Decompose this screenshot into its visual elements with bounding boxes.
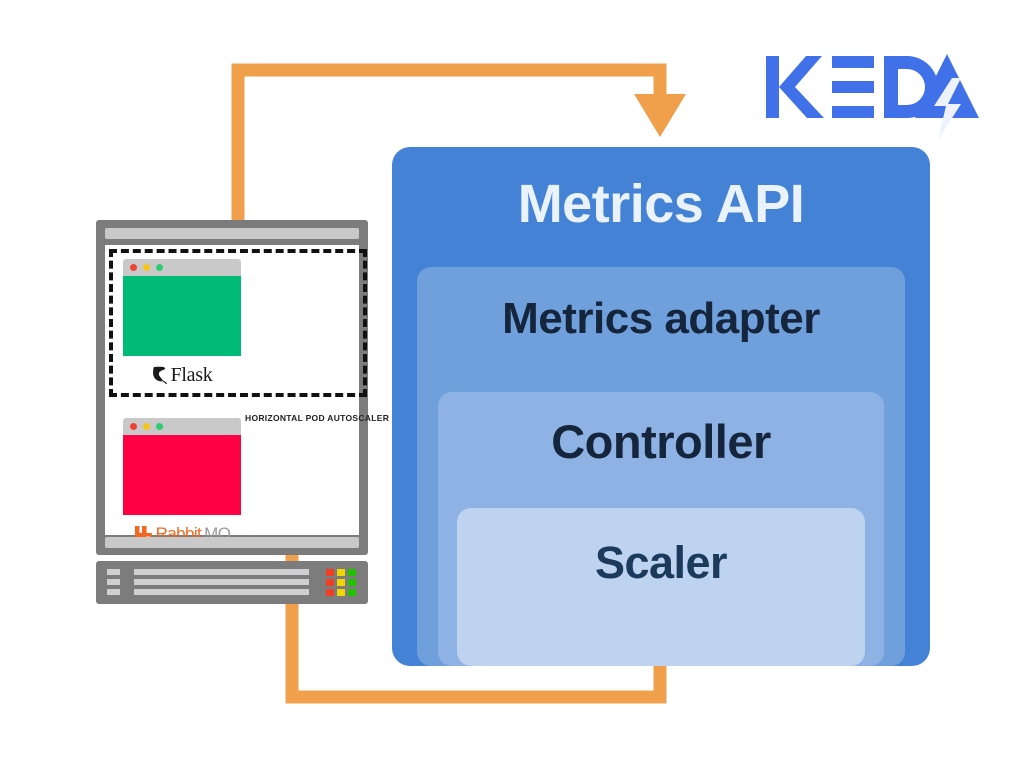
close-dot-icon[interactable] xyxy=(130,264,137,271)
rack-slot-bars xyxy=(134,569,309,595)
flask-horn-icon xyxy=(152,365,168,385)
window-titlebar xyxy=(123,259,241,276)
panel-scaler[interactable]: Scaler xyxy=(457,508,865,666)
monitor: HORIZONTAL POD AUTOSCALER Flask xyxy=(96,220,368,555)
flask-logo: Flask xyxy=(123,362,241,388)
flask-label: Flask xyxy=(171,364,213,387)
minimize-dot-icon[interactable] xyxy=(143,264,150,271)
panel-scaler-label: Scaler xyxy=(595,540,727,666)
rack-status-leds xyxy=(326,569,356,596)
monitor-top-bar xyxy=(105,228,359,239)
maximize-dot-icon[interactable] xyxy=(156,264,163,271)
minimize-dot-icon[interactable] xyxy=(143,423,150,430)
window-body xyxy=(123,435,241,515)
hpa-label: HORIZONTAL POD AUTOSCALER xyxy=(245,413,389,423)
keda-letter-e xyxy=(832,56,874,118)
app-window-flask[interactable]: Flask xyxy=(123,259,241,388)
maximize-dot-icon[interactable] xyxy=(156,423,163,430)
window-titlebar xyxy=(123,418,241,435)
window-body xyxy=(123,276,241,356)
keda-letter-k xyxy=(766,56,824,118)
close-dot-icon[interactable] xyxy=(130,423,137,430)
rack-indicator-squares xyxy=(107,569,120,595)
server-rack xyxy=(96,561,368,604)
monitor-bottom-bar xyxy=(105,537,359,548)
monitor-screen: HORIZONTAL POD AUTOSCALER Flask xyxy=(105,245,359,535)
keda-logo xyxy=(762,48,987,148)
app-window-rabbitmq[interactable]: RabbitMQ xyxy=(123,418,241,547)
